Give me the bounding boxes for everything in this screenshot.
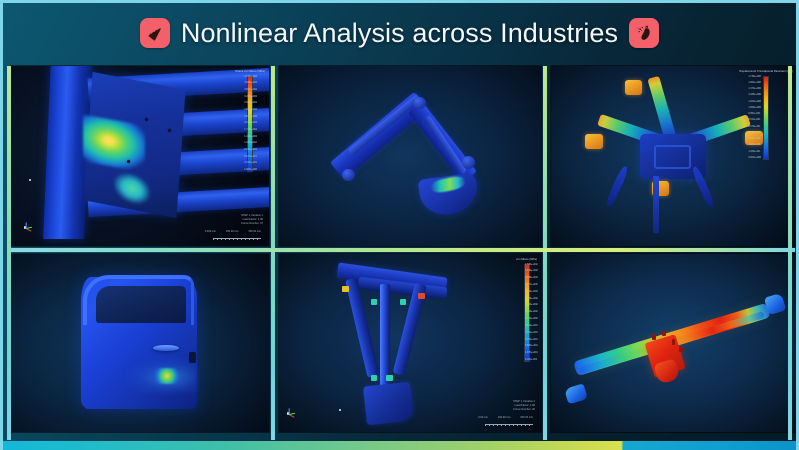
- panel-excavator[interactable]: [279, 66, 541, 246]
- wheat-icon: [140, 18, 170, 48]
- axis-triad-icon: [282, 405, 298, 421]
- legend-ticks: 2.680e+002 2.489e+002 2.298e+002 2.107e+…: [525, 264, 538, 362]
- scale-bar: [213, 236, 261, 240]
- scale-labels: 0.000 mm 250.00 mm 500.00 mm: [205, 230, 261, 233]
- legend-ticks: 1.738e+000 1.604e+000 1.470e+000 1.336e+…: [748, 76, 761, 160]
- panel-car-door[interactable]: [11, 254, 269, 432]
- axis-triad-icon: [19, 219, 35, 235]
- panel-suspension[interactable]: von Mises (MPa) 2.680e+002 2.489e+002 2.…: [279, 254, 541, 432]
- legend-ticks: 4.130e+002 3.828e+002 3.527e+002 3.225e+…: [244, 76, 257, 172]
- stress-legend: Stress von Mises (MPa) 4.130e+002 3.828e…: [235, 70, 265, 182]
- panel-drone[interactable]: Displacement Translational Resultant (mm…: [551, 66, 797, 246]
- panel-guardrail[interactable]: Stress von Mises (MPa) 4.130e+002 3.828e…: [11, 66, 269, 246]
- solution-meta: STEP 1, Iteration 1 Load Factor: 1.00 Fr…: [513, 400, 535, 412]
- legend-title: Displacement Translational Resultant (mm…: [739, 70, 793, 74]
- pepper-icon: [629, 18, 659, 48]
- excavator-scene: [279, 66, 541, 246]
- bottom-accent-bar: [3, 441, 796, 450]
- displacement-legend: Displacement Translational Resultant (mm…: [739, 70, 793, 170]
- scale-labels: 0.00 mm 400.00 mm 800.00 mm: [478, 416, 533, 419]
- legend-title: Stress von Mises (MPa): [235, 70, 265, 74]
- slide-title-bar: Nonlinear Analysis across Industries: [3, 3, 796, 63]
- guardrail-scene: [11, 66, 269, 246]
- legend-title: von Mises (MPa): [516, 258, 537, 262]
- car-door-scene: [11, 254, 269, 432]
- solution-meta: STEP 1, Iteration 1 Load Factor: 1.00 Fr…: [241, 214, 263, 226]
- leaf-spring-scene: [551, 254, 797, 432]
- simulation-panel-grid: Stress von Mises (MPa) 4.130e+002 3.828e…: [11, 66, 795, 440]
- page-title: Nonlinear Analysis across Industries: [181, 18, 618, 49]
- stress-legend: von Mises (MPa) 2.680e+002 2.489e+002 2.…: [516, 258, 537, 370]
- panel-leaf-spring[interactable]: [551, 254, 797, 432]
- suspension-scene: [279, 254, 541, 432]
- slide-canvas: Nonlinear Analysis across Industries: [0, 0, 799, 450]
- scale-bar: [485, 422, 533, 426]
